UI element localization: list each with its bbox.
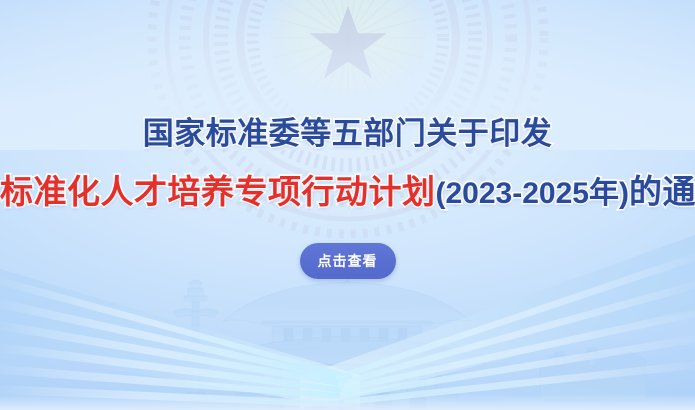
page-title-year-range: (2023-2025年) [436,177,629,210]
headline-block: 国家标准委等五部门关于印发 标准化人才培养专项行动计划(2023-2025年)的… [0,118,695,209]
policy-banner: 国家标准委等五部门关于印发 标准化人才培养专项行动计划(2023-2025年)的… [0,0,695,410]
page-title-plan-name: 标准化人才培养专项行动计划 [0,173,436,210]
page-title-line-2: 标准化人才培养专项行动计划(2023-2025年)的通知 [0,175,695,210]
bottom-light-band [0,394,695,410]
cta-wrapper: 点击查看 [0,243,695,279]
page-title-line-1: 国家标准委等五部门关于印发 [0,118,695,151]
tiananmen-gate-icon [0,260,695,410]
page-title-suffix: 的通知 [629,173,695,210]
view-details-button[interactable]: 点击查看 [300,243,396,279]
